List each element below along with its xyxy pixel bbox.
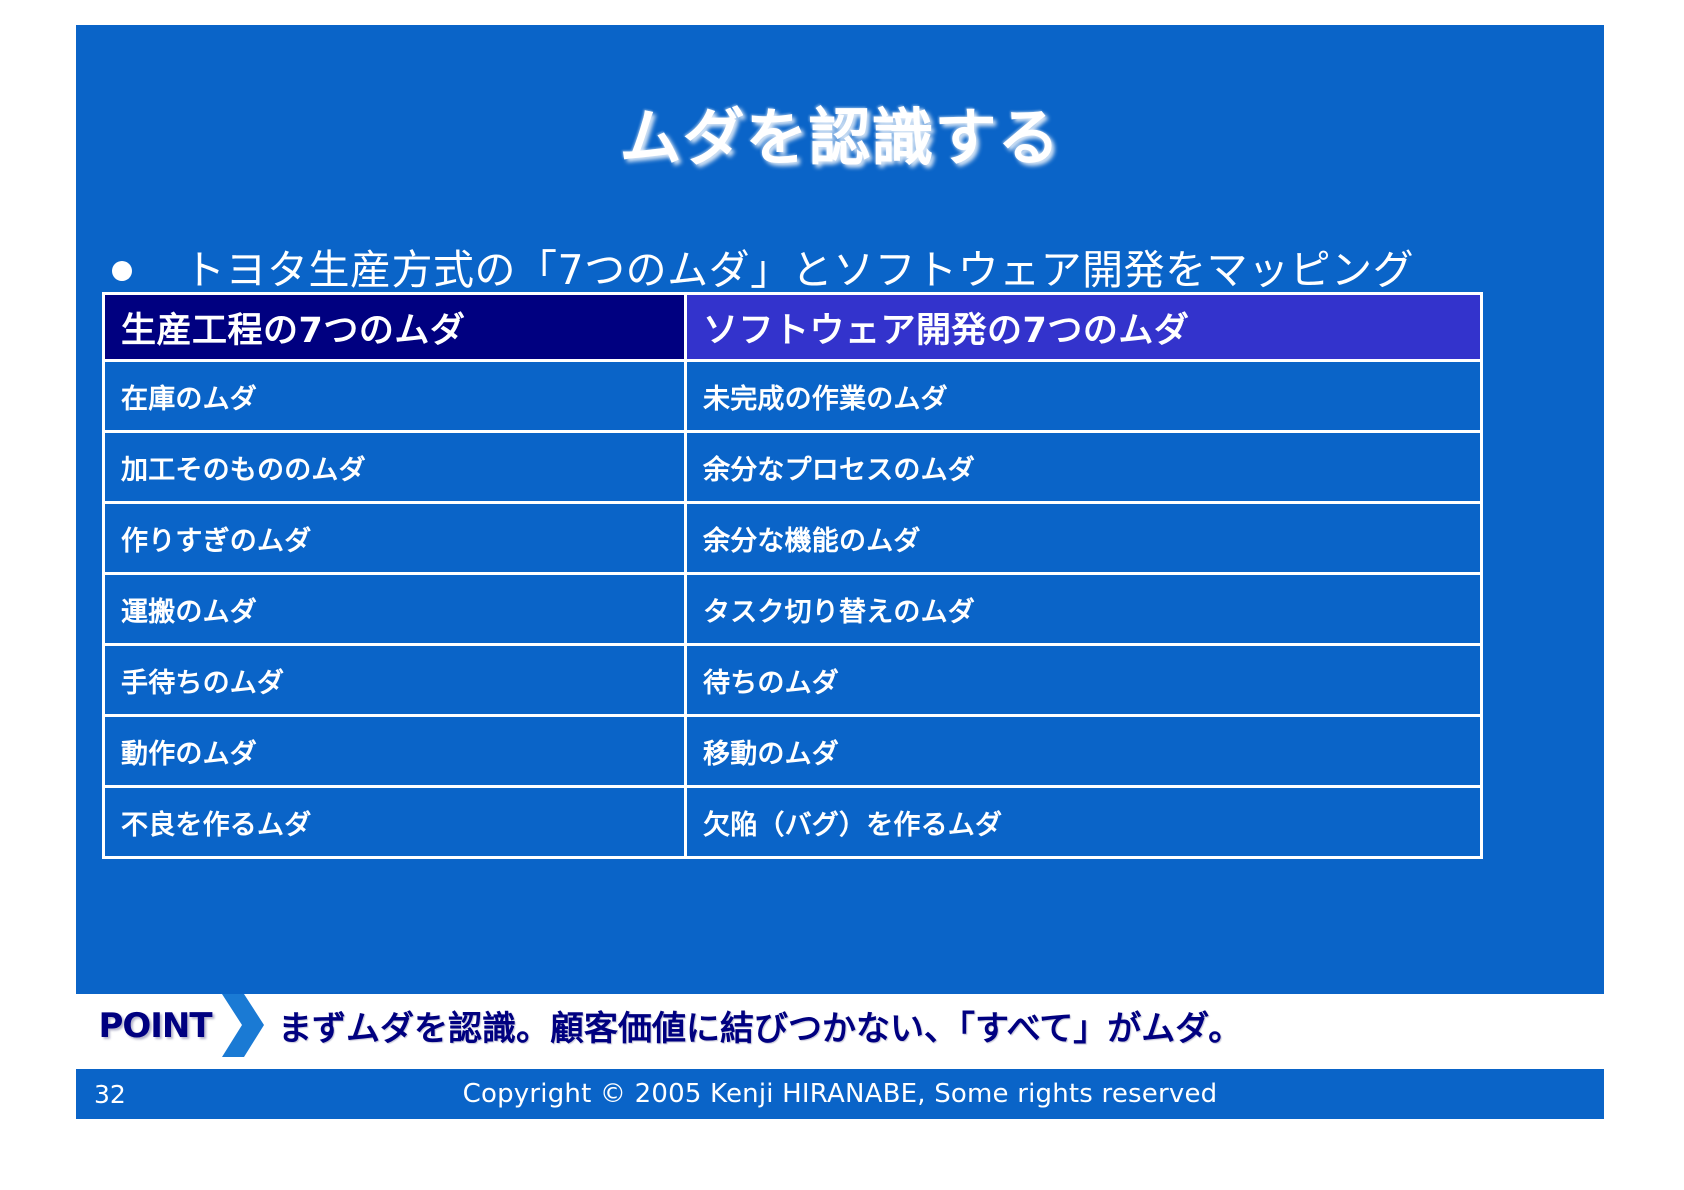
cell-software: 移動のムダ xyxy=(686,716,1482,787)
bullet-row: トヨタ生産方式の「7つのムダ」とソフトウェア開発をマッピング xyxy=(104,247,1604,294)
cell-production: 加工そのもののムダ xyxy=(104,432,686,503)
cell-software: 待ちのムダ xyxy=(686,645,1482,716)
cell-software: 欠陥（バグ）を作るムダ xyxy=(686,787,1482,858)
table-row: 在庫のムダ 未完成の作業のムダ xyxy=(104,361,1482,432)
cell-production: 運搬のムダ xyxy=(104,574,686,645)
slide-footer: 32 Copyright © 2005 Kenji HIRANABE, Some… xyxy=(76,1069,1604,1119)
footer-divider xyxy=(76,1057,1604,1069)
table-row: 運搬のムダ タスク切り替えのムダ xyxy=(104,574,1482,645)
copyright-text: Copyright © 2005 Kenji HIRANABE, Some ri… xyxy=(76,1079,1604,1109)
column-header-software: ソフトウェア開発の7つのムダ xyxy=(686,294,1482,361)
chevron-right-icon xyxy=(222,994,264,1057)
table-row: 動作のムダ 移動のムダ xyxy=(104,716,1482,787)
waste-mapping-table: 生産工程の7つのムダ ソフトウェア開発の7つのムダ 在庫のムダ 未完成の作業のム… xyxy=(102,292,1483,859)
cell-software: 未完成の作業のムダ xyxy=(686,361,1482,432)
table-row: 不良を作るムダ 欠陥（バグ）を作るムダ xyxy=(104,787,1482,858)
table-body: 在庫のムダ 未完成の作業のムダ 加工そのもののムダ 余分なプロセスのムダ 作りす… xyxy=(104,361,1482,858)
cell-software: タスク切り替えのムダ xyxy=(686,574,1482,645)
column-header-production: 生産工程の7つのムダ xyxy=(104,294,686,361)
cell-production: 手待ちのムダ xyxy=(104,645,686,716)
bullet-dot-icon xyxy=(112,261,132,281)
table-row: 手待ちのムダ 待ちのムダ xyxy=(104,645,1482,716)
cell-software: 余分な機能のムダ xyxy=(686,503,1482,574)
cell-software: 余分なプロセスのムダ xyxy=(686,432,1482,503)
table-row: 加工そのもののムダ 余分なプロセスのムダ xyxy=(104,432,1482,503)
point-label: POINT xyxy=(90,1006,220,1046)
point-band: POINT まずムダを認識。顧客価値に結びつかない、「すべて」がムダ。 xyxy=(76,994,1604,1057)
cell-production: 不良を作るムダ xyxy=(104,787,686,858)
table-row: 作りすぎのムダ 余分な機能のムダ xyxy=(104,503,1482,574)
point-text: まずムダを認識。顧客価値に結びつかない、「すべて」がムダ。 xyxy=(264,1001,1604,1050)
page-title: ムダを認識する xyxy=(76,107,1604,169)
cell-production: 動作のムダ xyxy=(104,716,686,787)
table-header: 生産工程の7つのムダ ソフトウェア開発の7つのムダ xyxy=(104,294,1482,361)
cell-production: 在庫のムダ xyxy=(104,361,686,432)
bullet-text: トヨタ生産方式の「7つのムダ」とソフトウェア開発をマッピング xyxy=(184,247,1414,294)
cell-production: 作りすぎのムダ xyxy=(104,503,686,574)
table-header-row: 生産工程の7つのムダ ソフトウェア開発の7つのムダ xyxy=(104,294,1482,361)
bottom-margin xyxy=(76,1119,1604,1162)
slide-canvas: ムダを認識する トヨタ生産方式の「7つのムダ」とソフトウェア開発をマッピング 生… xyxy=(76,25,1604,1162)
